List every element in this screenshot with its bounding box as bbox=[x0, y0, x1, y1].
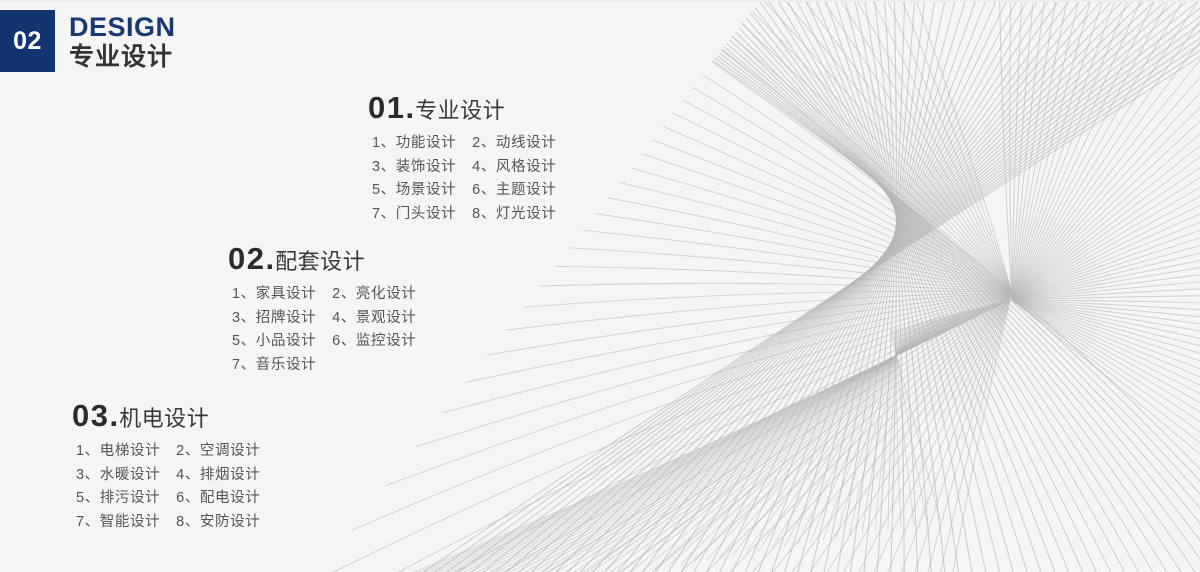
section-item: 7、音乐设计 bbox=[232, 354, 316, 378]
slide-canvas: 02 DESIGN 专业设计 01 . 专业设计 1、功能设计2、动线设计3、装… bbox=[0, 0, 1200, 572]
section-item: 7、门头设计 bbox=[372, 203, 456, 227]
section-number-badge: 02 bbox=[0, 10, 55, 72]
section-item: 3、装饰设计 bbox=[372, 156, 456, 180]
section-item: 8、灯光设计 bbox=[472, 203, 556, 227]
section-item: 1、家具设计 bbox=[232, 283, 316, 307]
design-section-03: 03 . 机电设计 1、电梯设计2、空调设计3、水暖设计4、排烟设计5、排污设计… bbox=[72, 400, 260, 534]
section-item-list: 1、家具设计2、亮化设计3、招牌设计4、景观设计5、小品设计6、监控设计7、音乐… bbox=[232, 283, 416, 377]
section-heading: 03 . 机电设计 bbox=[72, 400, 260, 431]
section-item: 1、功能设计 bbox=[372, 132, 456, 156]
section-item: 6、配电设计 bbox=[176, 487, 260, 511]
page-title-cn: 专业设计 bbox=[69, 43, 176, 73]
section-item: 2、动线设计 bbox=[472, 132, 556, 156]
section-item: 5、小品设计 bbox=[232, 330, 316, 354]
section-item: 7、智能设计 bbox=[76, 511, 160, 535]
section-item-list: 1、功能设计2、动线设计3、装饰设计4、风格设计5、场景设计6、主题设计7、门头… bbox=[372, 132, 556, 226]
top-divider bbox=[0, 0, 1200, 2]
header-title-group: DESIGN 专业设计 bbox=[69, 14, 176, 73]
section-item: 2、亮化设计 bbox=[332, 283, 416, 307]
design-section-02: 02 . 配套设计 1、家具设计2、亮化设计3、招牌设计4、景观设计5、小品设计… bbox=[228, 243, 416, 377]
section-item: 4、排烟设计 bbox=[176, 464, 260, 488]
section-item: 5、排污设计 bbox=[76, 487, 160, 511]
design-section-01: 01 . 专业设计 1、功能设计2、动线设计3、装饰设计4、风格设计5、场景设计… bbox=[368, 92, 556, 226]
section-item: 5、场景设计 bbox=[372, 179, 456, 203]
section-item: 6、主题设计 bbox=[472, 179, 556, 203]
section-item-list: 1、电梯设计2、空调设计3、水暖设计4、排烟设计5、排污设计6、配电设计7、智能… bbox=[76, 440, 260, 534]
section-item: 1、电梯设计 bbox=[76, 440, 160, 464]
section-number-dot: . bbox=[265, 243, 274, 274]
section-item: 8、安防设计 bbox=[176, 511, 260, 535]
section-number: 01 bbox=[368, 92, 405, 123]
section-number-dot: . bbox=[405, 92, 414, 123]
section-item: 3、水暖设计 bbox=[76, 464, 160, 488]
section-item: 4、景观设计 bbox=[332, 307, 416, 331]
section-item: 4、风格设计 bbox=[472, 156, 556, 180]
section-title: 机电设计 bbox=[119, 408, 209, 430]
section-heading: 01 . 专业设计 bbox=[368, 92, 556, 123]
section-title: 配套设计 bbox=[275, 251, 365, 273]
page-title-en: DESIGN bbox=[69, 14, 176, 41]
section-number: 03 bbox=[72, 400, 109, 431]
slide-header: 02 DESIGN 专业设计 bbox=[0, 0, 176, 73]
section-item: 6、监控设计 bbox=[332, 330, 416, 354]
badge-number-label: 02 bbox=[13, 29, 42, 54]
section-item: 3、招牌设计 bbox=[232, 307, 316, 331]
section-heading: 02 . 配套设计 bbox=[228, 243, 416, 274]
section-item: 2、空调设计 bbox=[176, 440, 260, 464]
section-number: 02 bbox=[228, 243, 265, 274]
section-number-dot: . bbox=[109, 400, 118, 431]
section-title: 专业设计 bbox=[415, 100, 505, 122]
